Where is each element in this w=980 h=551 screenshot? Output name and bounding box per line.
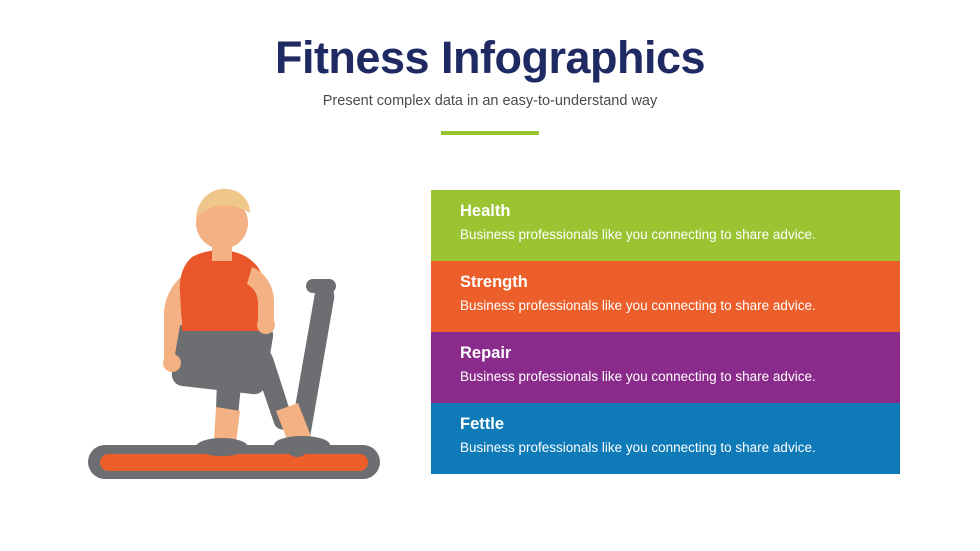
- bar-item[interactable]: Fettle Business professionals like you c…: [431, 403, 900, 474]
- slide: Fitness Infographics Present complex dat…: [0, 0, 980, 551]
- bar-label: Fettle: [460, 415, 882, 433]
- page-subtitle: Present complex data in an easy-to-under…: [0, 93, 980, 109]
- bar-label: Health: [460, 202, 882, 220]
- bar-label: Strength: [460, 273, 882, 291]
- bar-label: Repair: [460, 344, 882, 362]
- infographic-bars: Health Business professionals like you c…: [431, 190, 900, 474]
- accent-divider: [441, 131, 539, 135]
- bar-description: Business professionals like you connecti…: [460, 440, 882, 456]
- bar-item[interactable]: Strength Business professionals like you…: [431, 261, 900, 332]
- bar-item[interactable]: Health Business professionals like you c…: [431, 190, 900, 261]
- bar-item[interactable]: Repair Business professionals like you c…: [431, 332, 900, 403]
- bar-description: Business professionals like you connecti…: [460, 227, 882, 243]
- runner-on-treadmill-illustration: [70, 175, 420, 495]
- page-title: Fitness Infographics: [0, 34, 980, 81]
- bar-description: Business professionals like you connecti…: [460, 298, 882, 314]
- bar-description: Business professionals like you connecti…: [460, 369, 882, 385]
- slide-header: Fitness Infographics Present complex dat…: [0, 34, 980, 109]
